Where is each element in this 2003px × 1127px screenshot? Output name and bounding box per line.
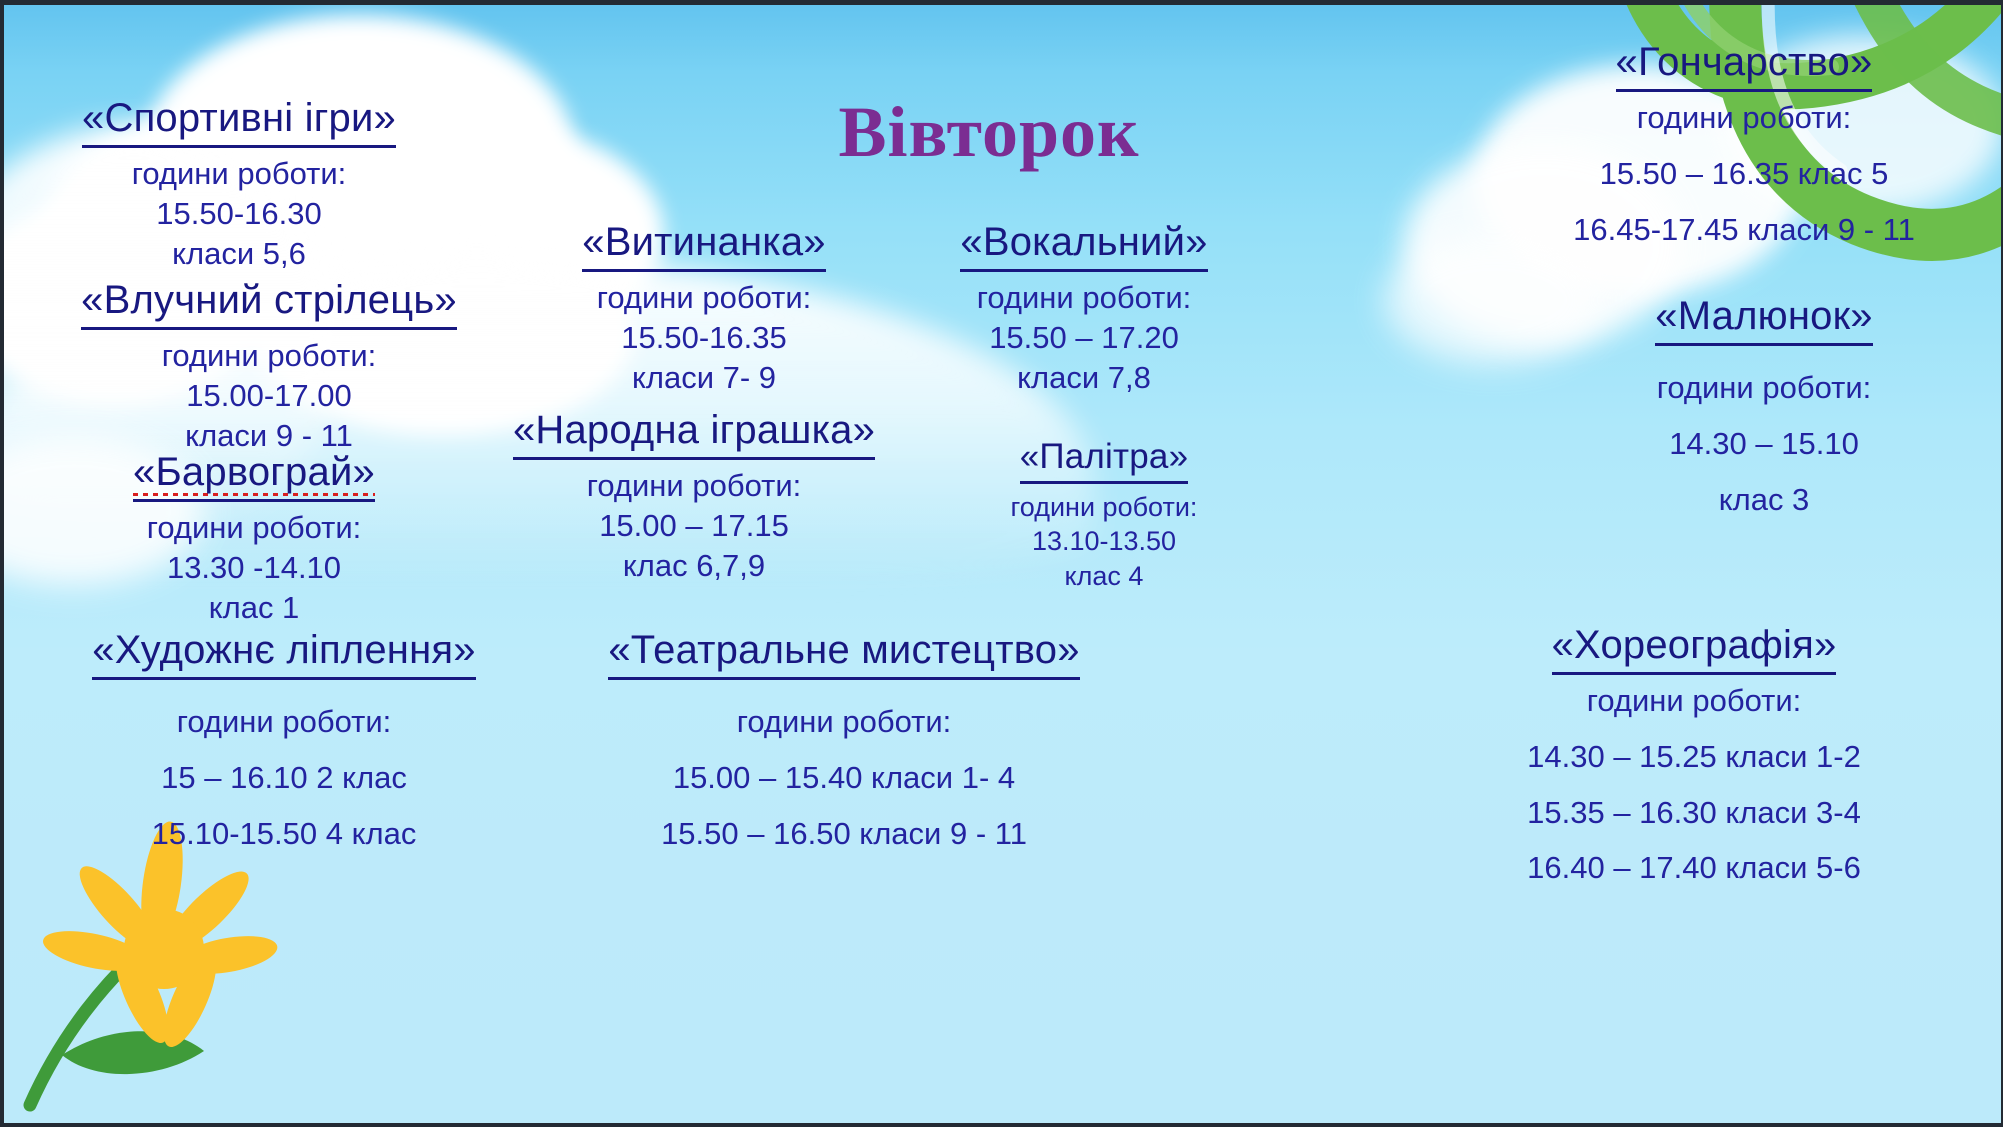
club-schedule-line: 15.50 – 17.20 — [884, 318, 1284, 358]
club-card-vytynanka: «Витинанка» години роботи: 15.50-16.35 к… — [504, 217, 904, 397]
club-card-choreography: «Хореографія» години роботи: 14.30 – 15.… — [1414, 620, 1974, 888]
club-hours-label: години роботи: — [534, 702, 1154, 742]
club-schedule-line: 15.00 – 17.15 — [444, 506, 944, 546]
club-name: «Витинанка» — [582, 217, 825, 272]
club-hours-label: години роботи: — [24, 154, 454, 194]
club-schedule-line: 15.50 – 16.35 клас 5 — [1494, 154, 1994, 194]
club-name: «Влучний стрілець» — [81, 275, 457, 330]
club-name: «Народна іграшка» — [513, 405, 875, 460]
club-schedule-line: 13.10-13.50 — [934, 524, 1274, 559]
club-hours-label: години роботи: — [504, 278, 904, 318]
club-schedule-line: 15.35 – 16.30 класи 3-4 — [1414, 793, 1974, 833]
club-hours-label: години роботи: — [1414, 681, 1974, 721]
club-card-vocal: «Вокальний» години роботи: 15.50 – 17.20… — [884, 217, 1284, 397]
club-schedule-line: 14.30 – 15.10 — [1554, 424, 1974, 464]
club-name: «Вокальний» — [960, 217, 1207, 272]
club-schedule-line: 15.00 – 15.40 класи 1- 4 — [534, 758, 1154, 798]
club-hours-label: години роботи: — [1494, 98, 1994, 138]
club-hours-label: години роботи: — [1554, 368, 1974, 408]
page-title: Вівторок — [749, 91, 1229, 174]
slide-canvas: Вівторок «Спортивні ігри» години роботи:… — [0, 0, 2003, 1127]
club-schedule-line: класи 7- 9 — [504, 358, 904, 398]
club-schedule-line: 15.50-16.35 — [504, 318, 904, 358]
club-schedule-line: 16.40 – 17.40 класи 5-6 — [1414, 848, 1974, 888]
club-schedule-line: 15.10-15.50 4 клас — [14, 814, 554, 854]
club-schedule-line: клас 6,7,9 — [444, 546, 944, 586]
club-name: «Барвограй» — [133, 447, 375, 502]
club-schedule-line: класи 7,8 — [884, 358, 1284, 398]
club-schedule-line: клас 3 — [1554, 480, 1974, 520]
club-name: «Гончарство» — [1616, 37, 1873, 92]
club-card-sport: «Спортивні ігри» години роботи: 15.50-16… — [24, 93, 454, 273]
club-name: «Спортивні ігри» — [82, 93, 396, 148]
club-hours-label: години роботи: — [34, 336, 504, 376]
club-card-shooter: «Влучний стрілець» години роботи: 15.00-… — [34, 275, 504, 455]
club-hours-label: години роботи: — [934, 490, 1274, 525]
club-schedule-line: класи 5,6 — [24, 234, 454, 274]
club-card-theatre: «Театральне мистецтво» години роботи: 15… — [534, 625, 1154, 853]
club-name: «Палітра» — [1020, 435, 1189, 484]
club-schedule-line: 16.45-17.45 класи 9 - 11 — [1494, 210, 1994, 250]
club-hours-label: години роботи: — [54, 508, 454, 548]
club-schedule-line: клас 1 — [54, 588, 454, 628]
club-card-modeling: «Художнє ліплення» години роботи: 15 – 1… — [14, 625, 554, 853]
club-schedule-line: 13.30 -14.10 — [54, 548, 454, 588]
club-card-drawing: «Малюнок» години роботи: 14.30 – 15.10 к… — [1554, 291, 1974, 519]
club-card-pottery: «Гончарство» години роботи: 15.50 – 16.3… — [1494, 37, 1994, 249]
club-card-narodna-igrashka: «Народна іграшка» години роботи: 15.00 –… — [444, 405, 944, 585]
club-name: «Малюнок» — [1655, 291, 1872, 346]
club-name: «Театральне мистецтво» — [608, 625, 1079, 680]
club-hours-label: години роботи: — [444, 466, 944, 506]
club-schedule-line: 15.50 – 16.50 класи 9 - 11 — [534, 814, 1154, 854]
club-schedule-line: 15.00-17.00 — [34, 376, 504, 416]
club-name: «Хореографія» — [1552, 620, 1837, 675]
club-schedule-line: клас 4 — [934, 559, 1274, 594]
club-name: «Художнє ліплення» — [92, 625, 475, 680]
club-schedule-line: 15 – 16.10 2 клас — [14, 758, 554, 798]
club-hours-label: години роботи: — [884, 278, 1284, 318]
club-schedule-line: 15.50-16.30 — [24, 194, 454, 234]
club-hours-label: години роботи: — [14, 702, 554, 742]
club-schedule-line: 14.30 – 15.25 класи 1-2 — [1414, 737, 1974, 777]
club-card-barvohraj: «Барвограй» години роботи: 13.30 -14.10 … — [54, 447, 454, 627]
club-card-palette: «Палітра» години роботи: 13.10-13.50 кла… — [934, 435, 1274, 593]
